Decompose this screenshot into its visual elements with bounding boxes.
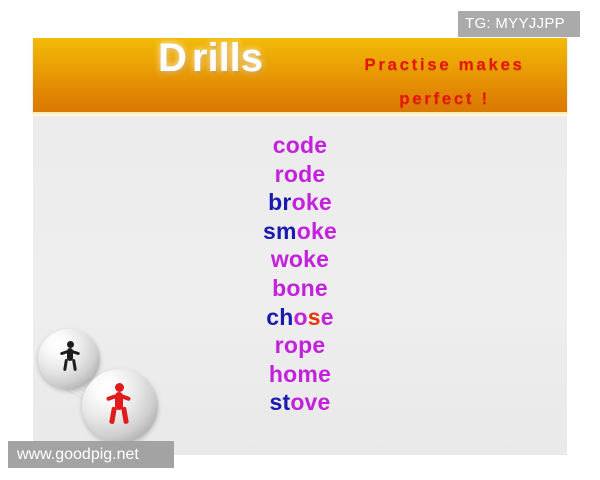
spheres-artwork	[28, 325, 163, 440]
word-smoke: smoke	[33, 217, 567, 246]
word-broke-seg-0: br	[268, 189, 291, 215]
word-rode-seg-0: rode	[275, 161, 326, 187]
watermark: www.goodpig.net	[8, 441, 174, 468]
word-woke-seg-0: woke	[271, 246, 329, 272]
word-woke: woke	[33, 245, 567, 274]
word-chose-seg-0: ch	[266, 304, 293, 330]
page-title-rest: rills	[187, 36, 263, 80]
slide-canvas: TG: MYYJJPP Drills Practise makes perfec…	[0, 0, 600, 480]
word-home-seg-0: home	[269, 361, 331, 387]
tg-badge: TG: MYYJJPP	[458, 11, 580, 37]
subtitle-line-2: perfect !	[322, 82, 567, 116]
word-code-seg-0: code	[273, 132, 327, 158]
word-rope-seg-0: rope	[275, 332, 326, 358]
word-code: code	[33, 131, 567, 160]
human-figure-black	[60, 341, 80, 371]
word-bone: bone	[33, 274, 567, 303]
word-chose-seg-1: o	[294, 304, 308, 330]
word-stove-seg-1: ove	[290, 389, 330, 415]
human-figure-red	[106, 383, 131, 424]
subtitle: Practise makes perfect !	[322, 48, 567, 116]
word-chose-seg-2: s	[308, 304, 321, 330]
word-bone-seg-0: bone	[272, 275, 328, 301]
word-smoke-seg-0: sm	[263, 218, 297, 244]
word-chose-seg-3: e	[321, 304, 334, 330]
subtitle-line-1: Practise makes	[322, 48, 567, 82]
word-broke-seg-1: oke	[292, 189, 332, 215]
page-title: Drills	[158, 36, 263, 81]
word-rode: rode	[33, 160, 567, 189]
word-stove-seg-0: st	[269, 389, 290, 415]
page-title-first-letter: D	[158, 36, 187, 80]
word-smoke-seg-1: oke	[297, 218, 337, 244]
word-broke: broke	[33, 188, 567, 217]
sphere-top	[38, 329, 100, 389]
sphere-bottom	[82, 369, 158, 443]
